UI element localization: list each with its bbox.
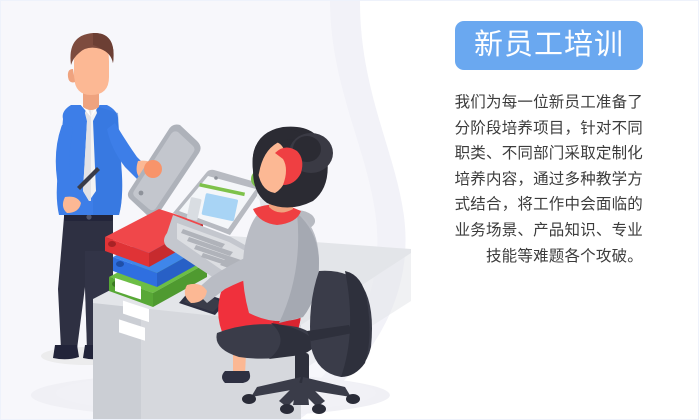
training-banner: 新员工培训 我们为每一位新员工准备了分阶段培养项目，针对不同职类、不同部门采取定… [0,0,699,420]
page-title: 新员工培训 [455,21,643,70]
man-shoe-left [53,345,79,359]
text-column: 新员工培训 我们为每一位新员工准备了分阶段培养项目，针对不同职类、不同部门采取定… [433,1,643,420]
woman-shoe [222,371,250,383]
description-text: 我们为每一位新员工准备了分阶段培养项目，针对不同职类、不同部门采取定制化培养内容… [433,90,643,269]
man-ear [68,69,75,82]
office-training-illustration [1,1,441,420]
tablet-hand-accent [144,160,162,178]
